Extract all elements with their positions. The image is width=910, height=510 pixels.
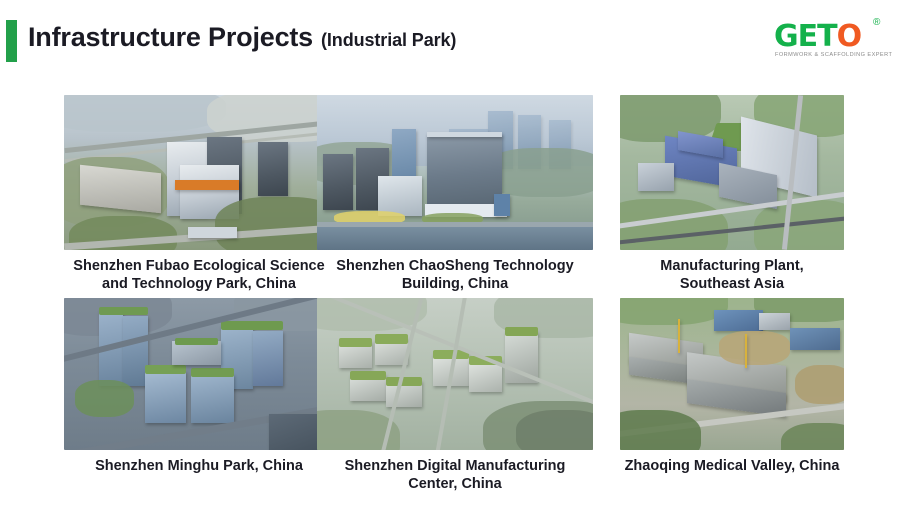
logo-letter-t: T xyxy=(817,19,836,54)
project-caption: Shenzhen Fubao Ecological Science and Te… xyxy=(54,257,344,293)
logo-letter-e: E xyxy=(798,19,818,54)
aerial-photo-manufacturing-plant-southeast-asia xyxy=(620,95,844,250)
gallery-row: Shenzhen Minghu Park, China xyxy=(0,293,910,505)
registered-trademark-icon: ® xyxy=(873,18,880,28)
geto-logo: GETO ® FORMWORK & SCAFFOLDING EXPERT xyxy=(770,18,888,60)
aerial-photo-fubao-science-park xyxy=(64,95,334,250)
logo-wordmark: GETO xyxy=(774,22,861,52)
project-card[interactable]: Shenzhen ChaoSheng Technology Building, … xyxy=(305,88,610,293)
project-caption: Shenzhen ChaoSheng Technology Building, … xyxy=(310,257,600,293)
gallery-row: Shenzhen Fubao Ecological Science and Te… xyxy=(0,88,910,293)
project-card[interactable]: Shenzhen Digital Manufacturing Center, C… xyxy=(305,293,610,505)
logo-letter-g: G xyxy=(774,19,798,54)
title-accent-bar xyxy=(6,20,17,62)
project-card[interactable]: Shenzhen Fubao Ecological Science and Te… xyxy=(0,88,305,293)
page-title-main: Infrastructure Projects xyxy=(28,22,313,53)
page-title: Infrastructure Projects (Industrial Park… xyxy=(28,22,456,53)
page-title-subtitle: (Industrial Park) xyxy=(321,30,456,51)
project-caption: Manufacturing Plant, Southeast Asia xyxy=(607,257,857,293)
project-caption: Shenzhen Digital Manufacturing Center, C… xyxy=(310,457,600,493)
aerial-photo-minghu-park xyxy=(64,298,334,450)
project-caption: Zhaoqing Medical Valley, China xyxy=(592,457,872,475)
aerial-photo-chaosheng-technology-building xyxy=(317,95,593,250)
aerial-photo-digital-manufacturing-center xyxy=(317,298,593,450)
project-caption: Shenzhen Minghu Park, China xyxy=(54,457,344,475)
logo-tagline: FORMWORK & SCAFFOLDING EXPERT xyxy=(775,52,892,58)
page-header: Infrastructure Projects (Industrial Park… xyxy=(0,0,910,80)
project-card[interactable]: Manufacturing Plant, Southeast Asia xyxy=(610,88,910,293)
project-gallery: Shenzhen Fubao Ecological Science and Te… xyxy=(0,88,910,505)
logo-letter-o: O xyxy=(837,19,862,54)
project-card[interactable]: Shenzhen Minghu Park, China xyxy=(0,293,305,505)
aerial-photo-zhaoqing-medical-valley xyxy=(620,298,844,450)
project-card[interactable]: Zhaoqing Medical Valley, China xyxy=(610,293,910,505)
